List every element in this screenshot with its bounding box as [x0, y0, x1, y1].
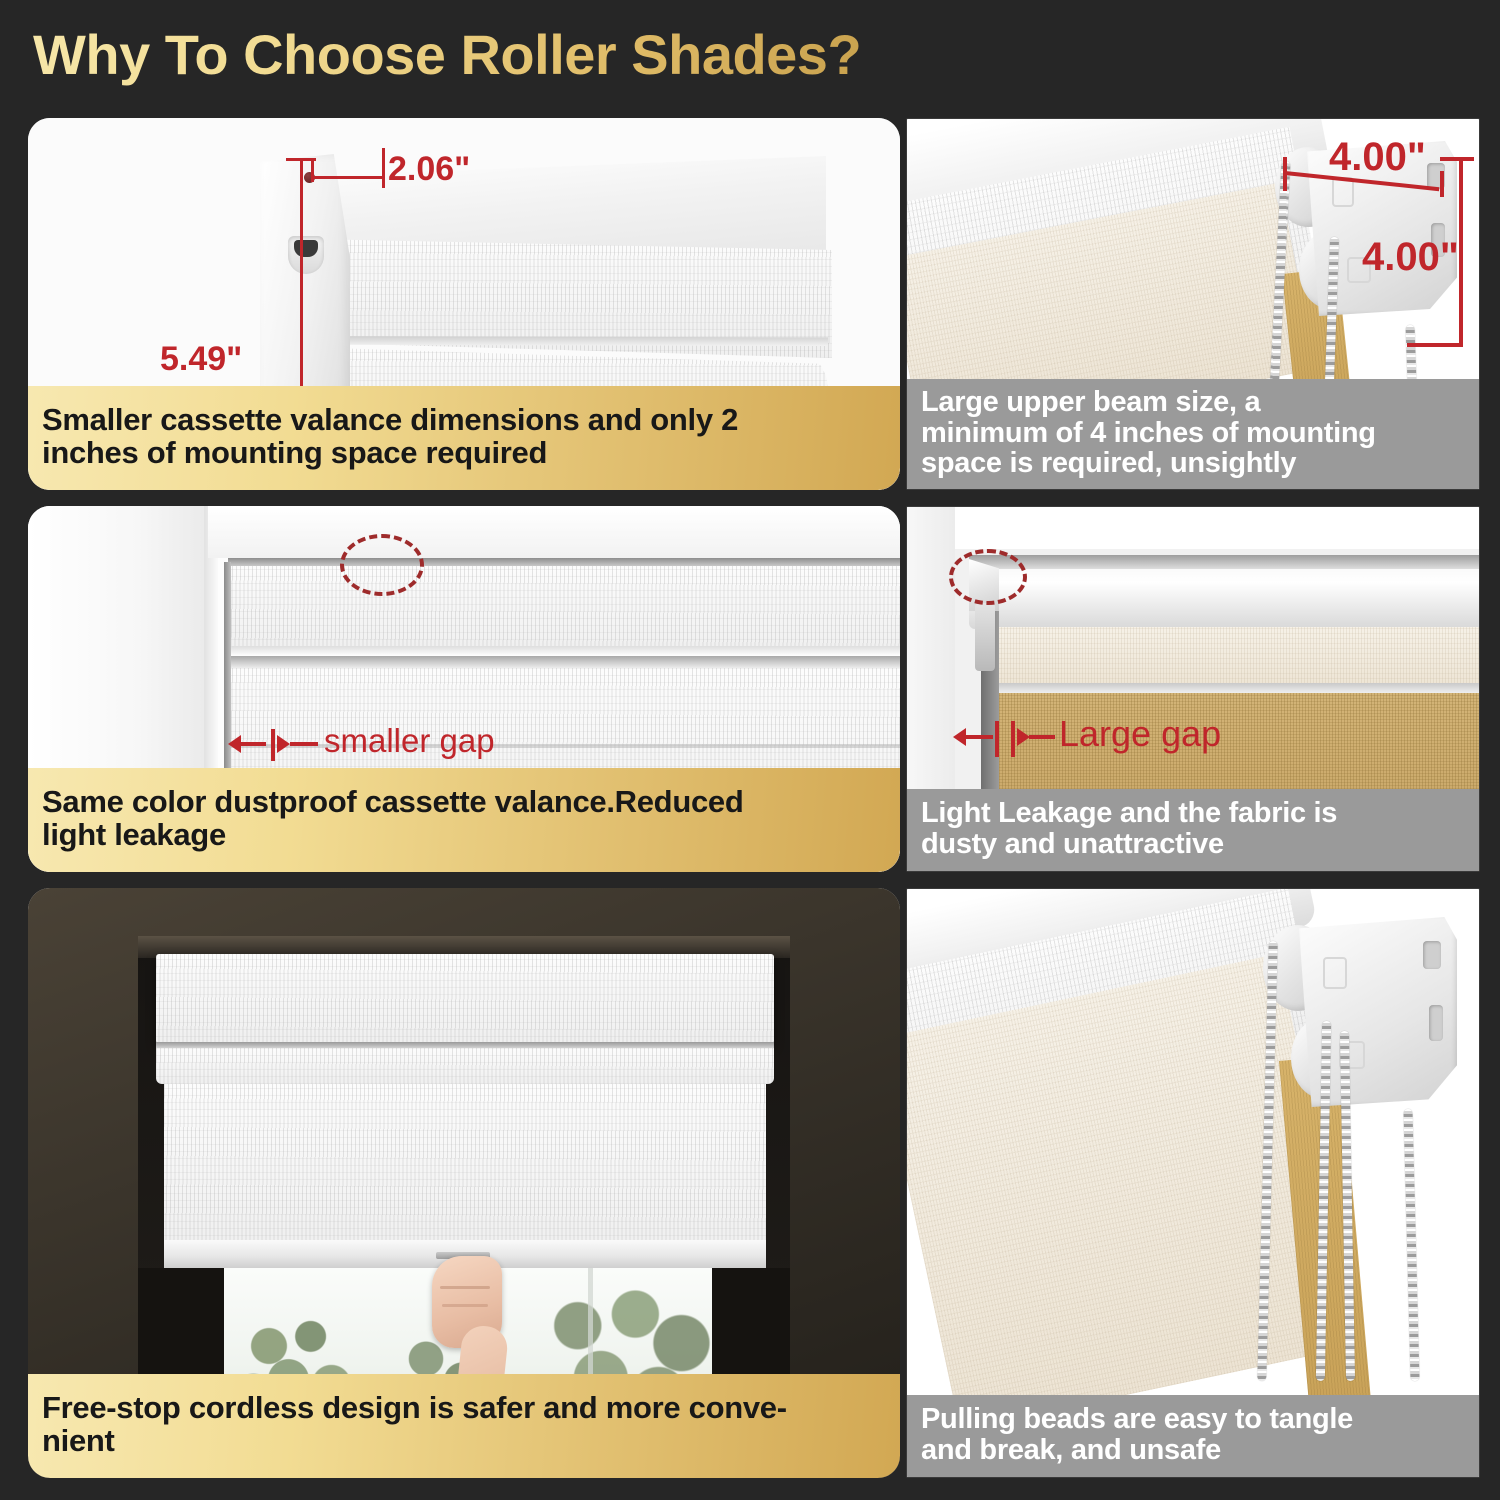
- beam-height-label: 4.00": [1362, 235, 1459, 280]
- caption-line-1: Large upper beam size, a: [921, 387, 1376, 418]
- caption-line-2: minimum of 4 inches of mounting: [921, 418, 1376, 449]
- width-dimension-tick-right: [382, 148, 385, 188]
- panel-large-gap: Large gap Light Leakage and the fabric i…: [906, 506, 1480, 872]
- caption-line-1: Same color dustproof cassette valance.Re…: [42, 786, 743, 819]
- gap-arrow-left-head: [953, 728, 966, 746]
- beam-height-tick-top: [1440, 157, 1474, 161]
- width-dimension-tick-left: [311, 160, 314, 182]
- finger-crease-2: [442, 1304, 488, 1307]
- valance-shadow-line: [268, 336, 828, 346]
- panel-pulling-beads: Pulling beads are easy to tangle and bre…: [906, 888, 1480, 1478]
- clutch-slot-dark: [294, 240, 318, 257]
- caption-line-2: and break, and unsafe: [921, 1435, 1353, 1466]
- panel-smaller-gap: smaller gap Same color dustproof cassett…: [28, 506, 900, 872]
- panel-caption-pulling-beads: Pulling beads are easy to tangle and bre…: [907, 1395, 1479, 1477]
- finger-crease: [440, 1286, 490, 1289]
- gap-arrow-right-shaft: [290, 742, 318, 746]
- height-dimension-tick-top: [286, 158, 316, 161]
- headrail-lower-lip: [156, 1048, 774, 1084]
- panel-caption-smaller-gap: Same color dustproof cassette valance.Re…: [28, 768, 900, 872]
- panel-caption-cordless-design: Free-stop cordless design is safer and m…: [28, 1374, 900, 1478]
- gap-arrow-left-head: [228, 735, 241, 753]
- smaller-gap-label: smaller gap: [324, 722, 495, 760]
- panel-cordless-design: Free-stop cordless design is safer and m…: [28, 888, 900, 1478]
- bracket-slot-bottom: [1429, 1005, 1443, 1041]
- gap-tick-right: [1011, 721, 1015, 757]
- width-dimension-label: 2.06": [388, 150, 470, 189]
- pulling-beads-photo: [907, 889, 1479, 1477]
- valance-lip: [228, 656, 900, 668]
- infographic-root: Why To Choose Roller Shades?: [0, 0, 1500, 1500]
- bracket-slot-top: [1423, 941, 1441, 969]
- large-gap-label: Large gap: [1059, 713, 1221, 755]
- caption-line-1: Pulling beads are easy to tangle: [921, 1404, 1353, 1435]
- cassette-bottom-shadow: [228, 646, 900, 656]
- cassette-face: [228, 566, 900, 654]
- width-dimension-line: [313, 176, 385, 179]
- gap-arrow-left-shaft: [965, 735, 993, 739]
- beam-width-tick-right: [1440, 171, 1444, 197]
- beam-width-tick-left: [1283, 157, 1287, 191]
- dashed-circle-annotation: [949, 549, 1027, 605]
- bracket-clip: [975, 603, 995, 671]
- gap-tick-left: [995, 721, 999, 757]
- caption-line-3: space is required, unsightly: [921, 448, 1376, 479]
- panel-large-upper-beam: 4.00" 4.00" Large upper beam size, a min…: [906, 118, 1480, 490]
- caption-line-1: Free-stop cordless design is safer and m…: [42, 1392, 787, 1425]
- caption-line-2: dusty and unattractive: [921, 829, 1337, 860]
- window-frame-header: [208, 506, 900, 558]
- caption-line-2: light leakage: [42, 819, 743, 852]
- roller-tube-highlight: [969, 555, 1479, 569]
- dashed-circle-annotation: [340, 534, 424, 596]
- panel-caption-large-upper-beam: Large upper beam size, a minimum of 4 in…: [907, 379, 1479, 489]
- caption-line-2: inches of mounting space required: [42, 437, 738, 470]
- gap-arrow-right-head: [277, 735, 290, 753]
- bracket-emboss-upper: [1323, 957, 1347, 989]
- page-title: Why To Choose Roller Shades?: [33, 22, 861, 87]
- gap-arrow-right-head: [1017, 728, 1030, 746]
- bead-chain-4: [1403, 1109, 1419, 1381]
- caption-line-1: Smaller cassette valance dimensions and …: [42, 404, 738, 437]
- cassette-top-edge: [228, 558, 900, 566]
- cassette-headrail: [156, 954, 774, 1044]
- gap-arrow-right-shaft: [1029, 735, 1055, 739]
- caption-line-1: Light Leakage and the fabric is: [921, 798, 1337, 829]
- panel-caption-cassette-dimensions: Smaller cassette valance dimensions and …: [28, 386, 900, 490]
- shade-fabric: [164, 1084, 766, 1250]
- wall-top: [907, 507, 1479, 549]
- cream-fabric-band: [995, 627, 1479, 689]
- caption-line-2: nient: [42, 1425, 787, 1458]
- beam-height-line: [1459, 157, 1463, 347]
- gap-tick: [271, 729, 275, 761]
- height-dimension-label: 5.49": [160, 340, 242, 379]
- beam-height-tick-bottom: [1407, 343, 1463, 347]
- panel-caption-large-gap: Light Leakage and the fabric is dusty an…: [907, 789, 1479, 871]
- panel-cassette-dimensions: 2.06" 5.49" Smaller cassette valance dim…: [28, 118, 900, 490]
- beam-width-label: 4.00": [1329, 135, 1426, 180]
- fabric-shadow-line: [995, 683, 1479, 693]
